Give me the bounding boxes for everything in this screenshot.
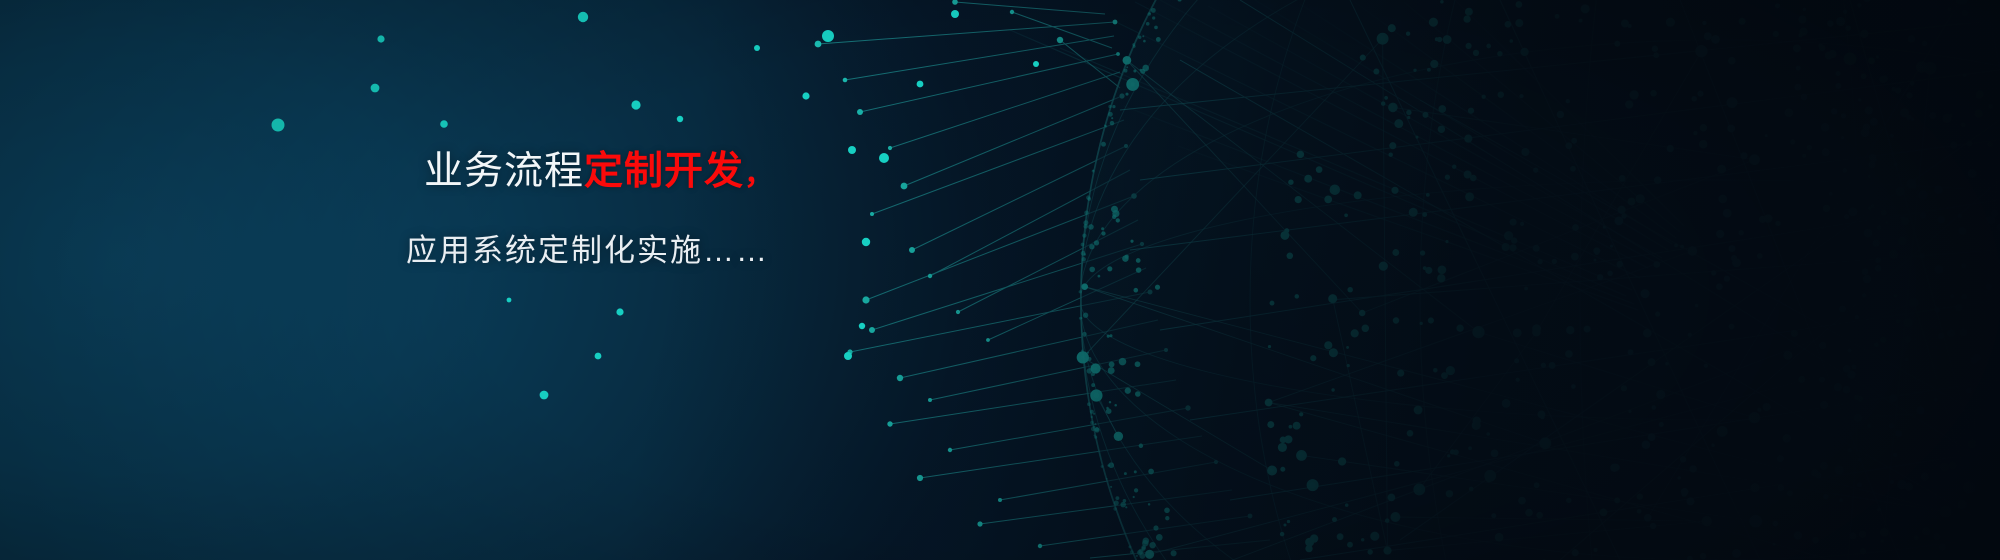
headline-plain: 业务流程 [424,150,584,193]
headline-highlight: 定制开发 [584,150,744,193]
floating-particles [0,0,2000,560]
hero-text-block: 业务流程定制开发， 应用系统定制化实施…… [0,150,775,270]
hero-banner: 业务流程定制开发， 应用系统定制化实施…… [0,0,2000,560]
headline-comma: ， [744,158,775,191]
page-title: 业务流程定制开发， [0,150,775,195]
page-subtitle: 应用系统定制化实施…… [0,225,775,270]
